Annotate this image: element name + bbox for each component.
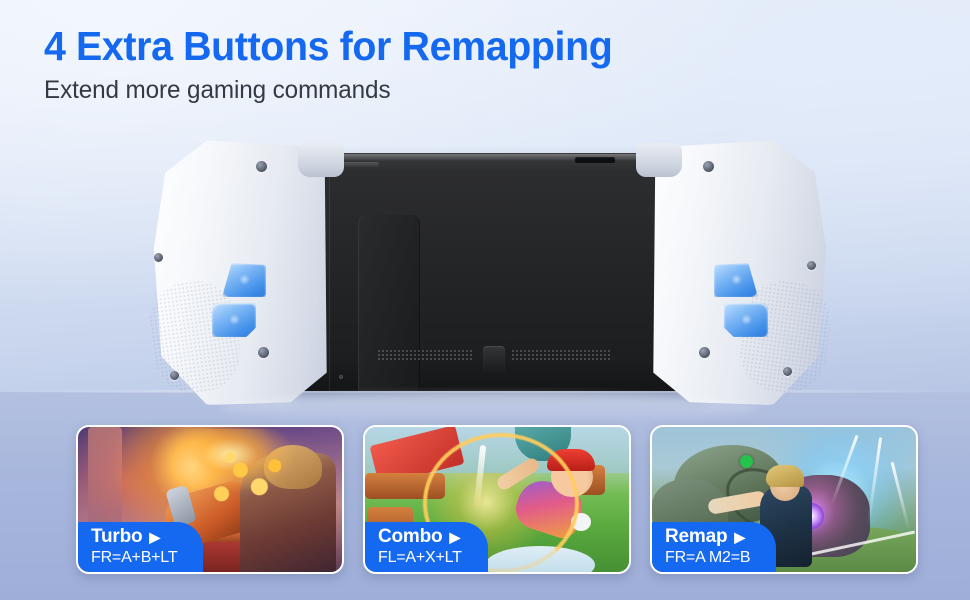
- left-grip-screw-top: [256, 161, 267, 172]
- turbo-badge: Turbo ▶ FR=A+B+LT: [78, 522, 203, 572]
- device-reflection: [220, 393, 760, 423]
- art-map-pin-icon: [740, 455, 753, 468]
- console-kickstand: [358, 215, 420, 391]
- combo-badge-title-row: Combo ▶: [378, 527, 462, 548]
- art-coins: [206, 449, 292, 519]
- product-device: [150, 135, 830, 405]
- play-arrow-icon: ▶: [149, 530, 160, 544]
- feature-thumbnail-row: Turbo ▶ FR=A+B+LT Combo ▶: [76, 425, 918, 574]
- left-shoulder-bumper: [298, 143, 344, 177]
- combo-badge-mapping: FL=A+X+LT: [378, 549, 462, 566]
- right-grip-screw-corner: [783, 367, 792, 376]
- left-grip-screw-bottom: [258, 347, 269, 358]
- left-grip-screw-corner: [170, 371, 179, 380]
- right-grip-screw-bottom: [699, 347, 710, 358]
- right-grip: [640, 135, 830, 405]
- page-subtitle: Extend more gaming commands: [44, 76, 618, 105]
- thumbnail-turbo[interactable]: Turbo ▶ FR=A+B+LT: [76, 425, 344, 574]
- header-block: 4 Extra Buttons for Remapping Extend mor…: [44, 24, 636, 105]
- remap-badge-mapping: FR=A M2=B: [665, 549, 750, 566]
- m2-back-button[interactable]: [724, 303, 768, 337]
- left-grip: [150, 135, 340, 405]
- art-hero-hair: [766, 465, 804, 487]
- left-grip-screw-side: [154, 253, 163, 262]
- turbo-badge-mapping: FR=A+B+LT: [91, 549, 177, 566]
- right-grip-screw-top: [703, 161, 714, 172]
- combo-badge: Combo ▶ FL=A+X+LT: [365, 522, 488, 572]
- remap-badge-label: Remap: [665, 527, 727, 548]
- play-arrow-icon: ▶: [734, 530, 745, 544]
- cartridge-slot-icon: [575, 157, 615, 163]
- turbo-badge-title-row: Turbo ▶: [91, 527, 177, 548]
- play-arrow-icon: ▶: [449, 530, 460, 544]
- speaker-grille-right: [511, 349, 611, 360]
- combo-badge-label: Combo: [378, 527, 442, 548]
- right-grip-screw-side: [807, 261, 816, 270]
- remap-badge-title-row: Remap ▶: [665, 527, 750, 548]
- usb-c-port: [483, 346, 505, 372]
- fr-back-button[interactable]: [212, 303, 256, 337]
- page-title: 4 Extra Buttons for Remapping: [44, 24, 612, 70]
- turbo-badge-label: Turbo: [91, 527, 142, 548]
- remap-badge: Remap ▶ FR=A M2=B: [652, 522, 776, 572]
- thumbnail-remap[interactable]: Remap ▶ FR=A M2=B: [650, 425, 918, 574]
- speaker-grille-left: [377, 349, 473, 360]
- thumbnail-combo[interactable]: Combo ▶ FL=A+X+LT: [363, 425, 631, 574]
- right-shoulder-bumper: [636, 143, 682, 177]
